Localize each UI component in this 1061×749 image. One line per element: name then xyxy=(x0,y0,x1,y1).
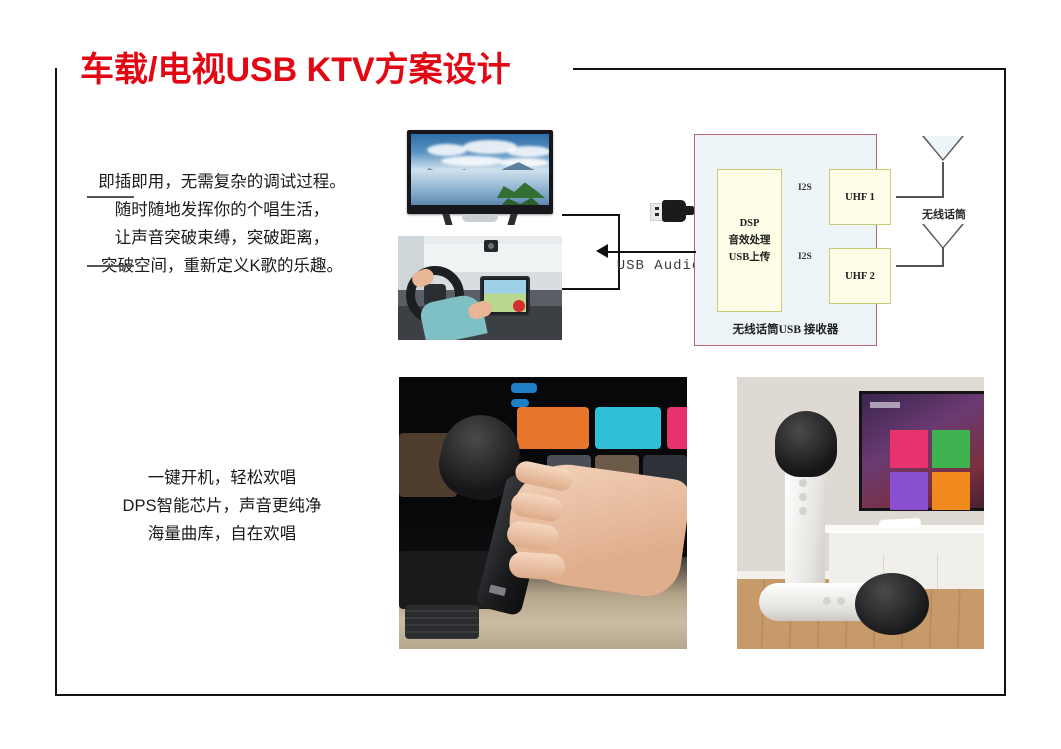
feature-copy-bottom: 一键开机，轻松欢唱 DPS智能芯片，声音更纯净 海量曲库，自在欢唱 xyxy=(62,464,382,548)
copy-top-line-1: 即插即用，无需复杂的调试过程。 xyxy=(62,168,382,196)
uhf1-block: UHF 1 xyxy=(829,169,891,225)
usb-connector-icon xyxy=(648,200,694,224)
standing-microphone-foam-head xyxy=(775,411,837,477)
i2s-label-2: I2S xyxy=(798,252,812,262)
uhf2-block: UHF 2 xyxy=(829,248,891,304)
i2s-line-1 xyxy=(87,196,134,198)
dashcam-icon xyxy=(484,240,498,252)
feature-copy-top: 即插即用，无需复杂的调试过程。 随时随地发挥你的个唱生活， 让声音突破束缚，突破… xyxy=(62,168,382,280)
dsp-line-1: DSP xyxy=(740,215,760,232)
lying-microphone-foam-head xyxy=(855,573,929,635)
frame-right-border xyxy=(1004,68,1006,696)
antenna-1-stem xyxy=(942,162,944,197)
dsp-line-2: 音效处理 xyxy=(729,232,771,249)
usb-feed-line xyxy=(686,251,696,253)
dsp-block: DSP 音效处理 USB上传 xyxy=(717,169,782,312)
receiver-caption: 无线话筒USB 接收器 xyxy=(695,321,876,337)
i2s-label-1: I2S xyxy=(798,183,812,193)
antenna-icon-1 xyxy=(922,136,964,161)
dsp-line-3: USB上传 xyxy=(729,249,770,266)
uhf2-antenna-line xyxy=(896,265,944,267)
tv-chin xyxy=(411,205,549,214)
frame-bottom-border xyxy=(55,694,1006,696)
connector-line-tv xyxy=(562,214,620,216)
frame-top-rule xyxy=(573,68,1006,70)
copy-bottom-line-3: 海量曲库，自在欢唱 xyxy=(62,520,382,548)
tv-bezel xyxy=(407,130,553,214)
copy-bottom-line-1: 一键开机，轻松欢唱 xyxy=(62,464,382,492)
wall-mounted-tv xyxy=(859,391,984,511)
frame-left-border xyxy=(55,68,57,696)
page-title: 车载/电视USB KTV方案设计 xyxy=(80,42,511,91)
standing-microphone-body xyxy=(785,459,825,587)
tv-stand xyxy=(444,214,516,226)
i2s-line-2 xyxy=(87,265,134,267)
uhf1-antenna-line xyxy=(896,196,944,198)
car-interior-photo xyxy=(398,236,562,340)
living-room-mics-photo xyxy=(737,377,984,649)
left-arrow-icon xyxy=(596,244,608,258)
tv-screen-image xyxy=(411,134,549,205)
connector-line-car xyxy=(562,288,620,290)
copy-top-line-3: 让声音突破束缚，突破距离， xyxy=(62,224,382,252)
mic-in-car-photo xyxy=(399,377,687,649)
tv-photo xyxy=(398,126,562,230)
slide-canvas: 车载/电视USB KTV方案设计 即插即用，无需复杂的调试过程。 随时随地发挥你… xyxy=(0,0,1061,749)
copy-bottom-line-2: DPS智能芯片，声音更纯净 xyxy=(62,492,382,520)
receiver-block-diagram: DSP 音效处理 USB上传 UHF 1 UHF 2 无线话筒USB 接收器 xyxy=(694,134,877,346)
antenna-2-stem xyxy=(942,247,944,266)
antenna-icon-2 xyxy=(922,224,964,249)
copy-top-line-2: 随时随地发挥你的个唱生活， xyxy=(62,196,382,224)
wireless-mic-label: 无线话筒 xyxy=(908,206,980,222)
